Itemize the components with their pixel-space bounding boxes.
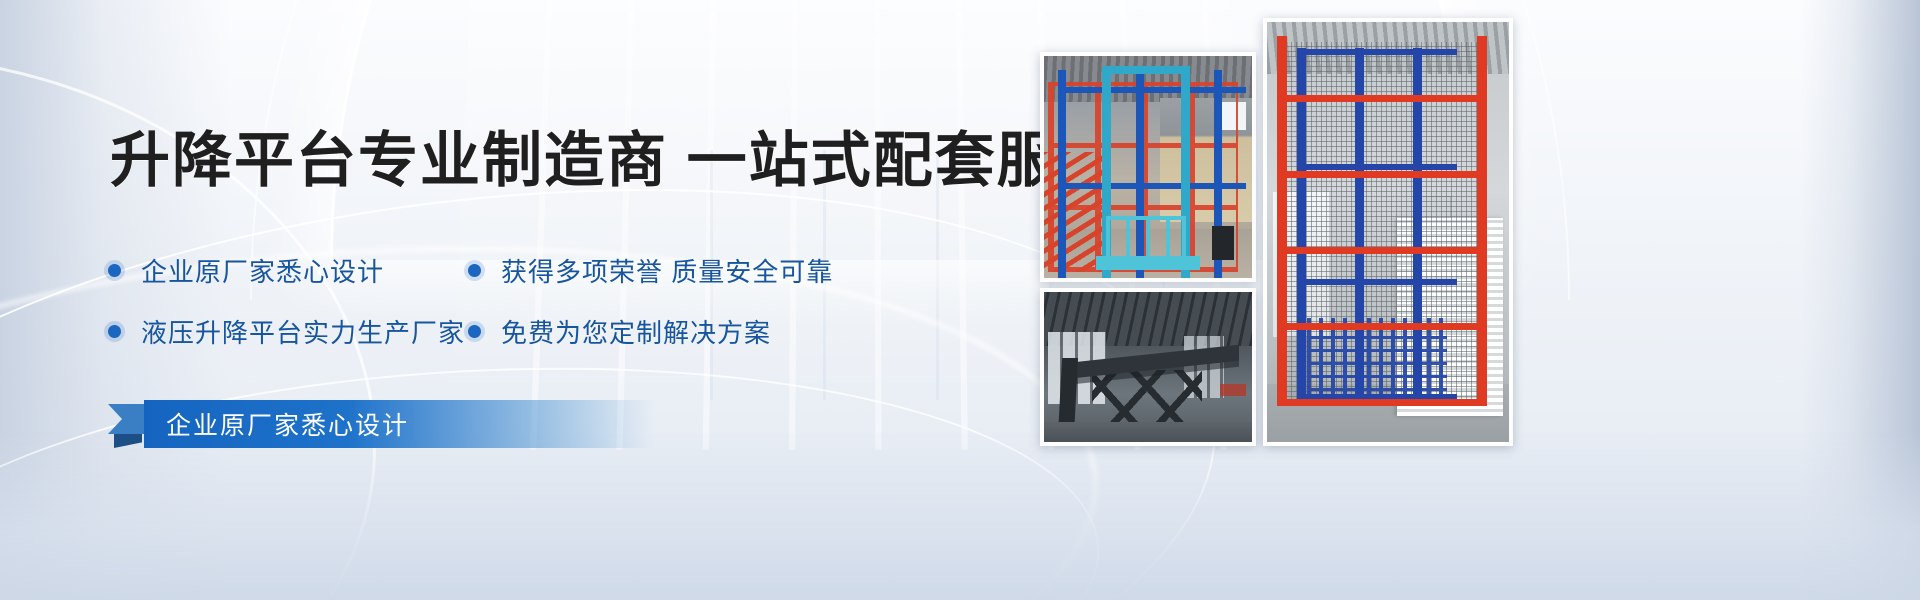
feature-bullet-label: 获得多项荣誉 质量安全可靠 (501, 252, 833, 289)
feature-bullet-row: 企业原厂家悉心设计 获得多项荣誉 质量安全可靠 (108, 252, 928, 289)
ribbon-tab-shadow-icon (114, 434, 142, 448)
dot-icon (108, 264, 121, 277)
feature-bullet-list: 企业原厂家悉心设计 获得多项荣誉 质量安全可靠 液压升降平台实力生产厂家 免费为… (108, 252, 928, 374)
product-photo-collage (1035, 0, 1920, 600)
banner-headline: 升降平台专业制造商 一站式配套服务 (110, 112, 1121, 199)
feature-bullet-item: 液压升降平台实力生产厂家 (108, 313, 468, 350)
warehouse-rack-lift-photo[interactable] (1040, 52, 1256, 282)
feature-bullet-label: 企业原厂家悉心设计 (141, 252, 384, 289)
highlight-ribbon[interactable]: 企业原厂家悉心设计 (108, 400, 668, 458)
feature-bullet-row: 液压升降平台实力生产厂家 免费为您定制解决方案 (108, 313, 928, 350)
dot-icon (468, 264, 481, 277)
ribbon-bar: 企业原厂家悉心设计 (144, 400, 654, 448)
feature-bullet-item: 免费为您定制解决方案 (468, 313, 771, 350)
feature-bullet-label: 液压升降平台实力生产厂家 (141, 313, 465, 350)
dot-icon (468, 325, 481, 338)
feature-bullet-label: 免费为您定制解决方案 (501, 313, 771, 350)
feature-bullet-item: 企业原厂家悉心设计 (108, 252, 468, 289)
feature-bullet-item: 获得多项荣誉 质量安全可靠 (468, 252, 833, 289)
dot-icon (108, 325, 121, 338)
promo-banner: 升降平台专业制造商 一站式配套服务 企业原厂家悉心设计 获得多项荣誉 质量安全可… (0, 0, 1920, 600)
banner-text-content: 升降平台专业制造商 一站式配套服务 企业原厂家悉心设计 获得多项荣誉 质量安全可… (0, 0, 1030, 600)
ribbon-label: 企业原厂家悉心设计 (166, 406, 409, 442)
caged-goods-lift-photo[interactable] (1263, 18, 1513, 446)
scissor-lift-photo[interactable] (1040, 288, 1256, 446)
